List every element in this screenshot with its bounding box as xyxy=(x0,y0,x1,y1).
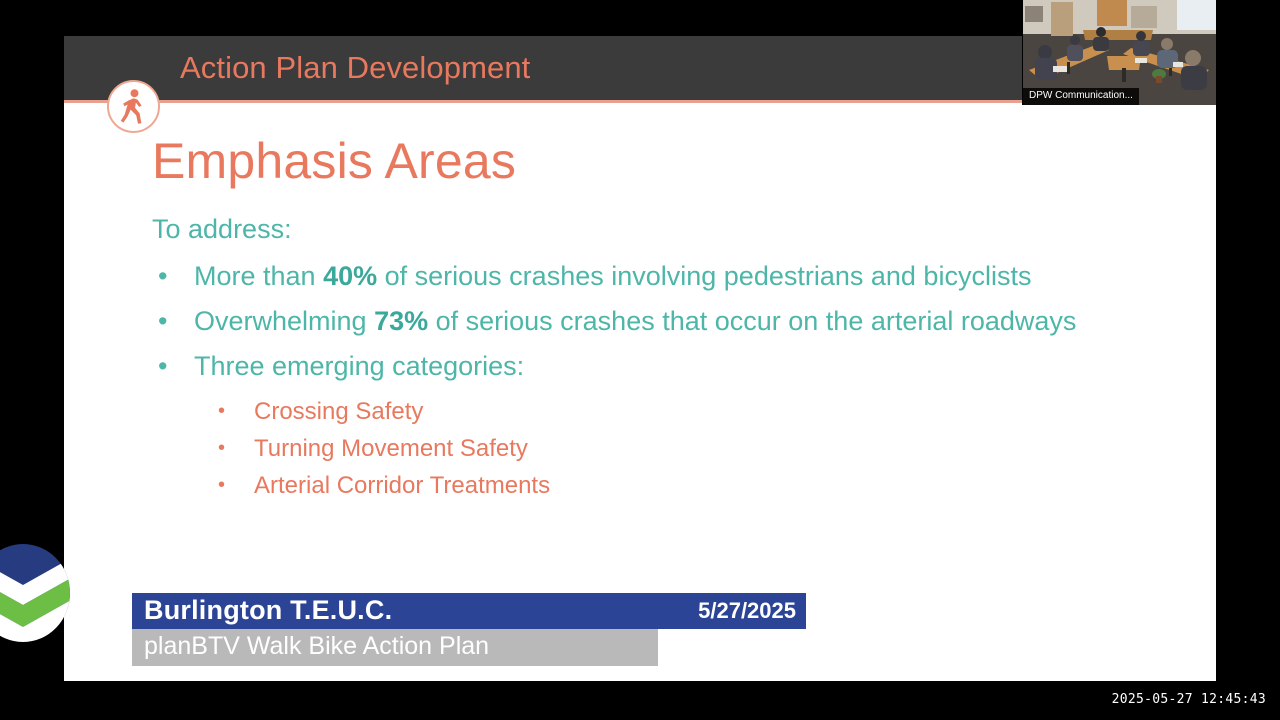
sub-bullet-text: Crossing Safety xyxy=(254,393,1187,430)
sub-bullet-item: • Arterial Corridor Treatments xyxy=(214,467,1187,504)
slide-header-title: Action Plan Development xyxy=(180,50,530,86)
bullet-text-post: of serious crashes that occur on the art… xyxy=(428,306,1076,336)
sub-bullet-marker-icon: • xyxy=(214,393,254,430)
video-label: DPW Communication... xyxy=(1023,88,1139,105)
bullet-marker-icon: • xyxy=(152,303,194,340)
footer-organization-banner: Burlington T.E.U.C. 5/27/2025 xyxy=(132,593,806,629)
bullet-item: • Overwhelming 73% of serious crashes th… xyxy=(152,303,1187,340)
sub-bullet-item: • Turning Movement Safety xyxy=(214,430,1187,467)
bullet-emphasis: 73% xyxy=(374,306,428,336)
recording-timestamp: 2025-05-27 12:45:43 xyxy=(1112,692,1266,707)
bullet-text-pre: More than xyxy=(194,261,323,291)
burlington-city-logo-icon xyxy=(0,543,75,643)
bullet-text-pre: Overwhelming xyxy=(194,306,374,336)
presentation-slide: Action Plan Development Emphasis Areas T… xyxy=(64,36,1216,681)
bullet-text-pre: Three emerging categories: xyxy=(194,351,524,381)
bullet-text: Overwhelming 73% of serious crashes that… xyxy=(194,303,1187,340)
bullet-marker-icon: • xyxy=(152,258,194,295)
bullet-item: • More than 40% of serious crashes invol… xyxy=(152,258,1187,295)
bullet-marker-icon: • xyxy=(152,348,194,385)
sub-bullet-marker-icon: • xyxy=(214,430,254,467)
pedestrian-walking-icon xyxy=(107,80,160,133)
bullet-text-post: of serious crashes involving pedestrians… xyxy=(377,261,1031,291)
sub-bullet-item: • Crossing Safety xyxy=(214,393,1187,430)
bullet-list: • More than 40% of serious crashes invol… xyxy=(152,258,1187,504)
sub-bullet-list: • Crossing Safety • Turning Movement Saf… xyxy=(214,393,1187,504)
page-title: Emphasis Areas xyxy=(152,132,516,190)
lead-in-text: To address: xyxy=(152,214,292,245)
footer-subtitle-banner: planBTV Walk Bike Action Plan xyxy=(132,629,658,666)
video-thumbnail[interactable]: DPW Communication... xyxy=(1022,0,1216,105)
bullet-emphasis: 40% xyxy=(323,261,377,291)
sub-bullet-marker-icon: • xyxy=(214,467,254,504)
bullet-text: More than 40% of serious crashes involvi… xyxy=(194,258,1187,295)
footer-date-label: 5/27/2025 xyxy=(698,598,796,624)
sub-bullet-text: Turning Movement Safety xyxy=(254,430,1187,467)
screen-recording-frame: Action Plan Development Emphasis Areas T… xyxy=(0,0,1280,720)
footer-subtitle-label: planBTV Walk Bike Action Plan xyxy=(144,632,489,661)
corner-logo-mark-icon xyxy=(1134,569,1216,681)
bullet-item: • Three emerging categories: xyxy=(152,348,1187,385)
footer-organization-label: Burlington T.E.U.C. xyxy=(144,595,392,626)
bullet-text: Three emerging categories: xyxy=(194,348,1187,385)
sub-bullet-text: Arterial Corridor Treatments xyxy=(254,467,1187,504)
